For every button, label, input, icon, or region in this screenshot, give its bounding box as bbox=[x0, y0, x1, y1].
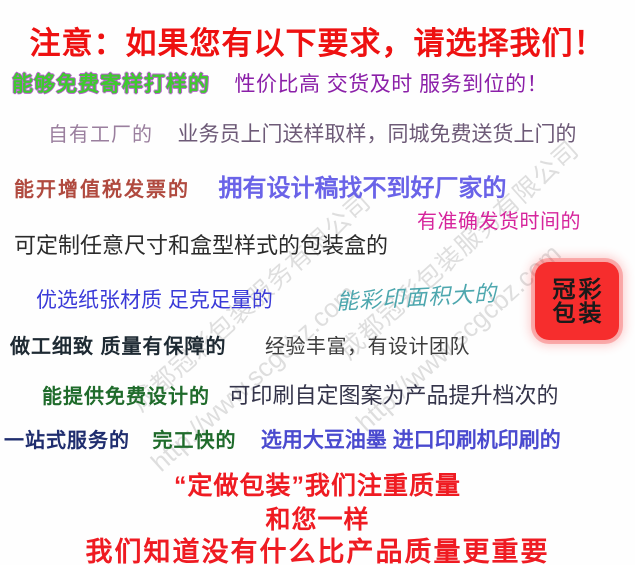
feature-soy-ink-label: 选用大豆油墨 进口印刷机印刷的 bbox=[261, 424, 561, 454]
feature-one-stop-service-label: 一站式服务的 bbox=[4, 424, 130, 453]
feature-workmanship-label: 做工细致 质量有保障的 bbox=[10, 330, 227, 359]
feature-row-free-design: 能提供免费设计的 可印刷自定图案为产品提升档次的 bbox=[0, 378, 635, 410]
feature-row-free-sample: 能够免费寄样打样的 性价比高 交货及时 服务到位的！ bbox=[0, 68, 635, 98]
brand-stamp: 冠彩 包装 bbox=[535, 262, 619, 340]
brand-stamp-line-2: 包装 bbox=[550, 301, 605, 325]
feature-vat-invoice-label: 能开增值税发票的 bbox=[14, 173, 190, 202]
feature-large-color-print-label: 能彩印面积大的 bbox=[335, 276, 497, 316]
feature-row-own-factory: 自有工厂的 业务员上门送样取样，同城免费送货上门的 bbox=[0, 118, 635, 148]
feature-row-invoice: 能开增值税发票的 拥有设计稿找不到好厂家的 bbox=[0, 168, 635, 203]
feature-row-custom-size: 可定制任意尺寸和盒型样式的包装盒的 bbox=[0, 228, 635, 260]
feature-own-factory-label: 自有工厂的 bbox=[48, 118, 153, 147]
closing-line-3: 我们知道没有什么比产品质量更重要 bbox=[0, 530, 635, 565]
feature-free-sample-label: 能够免费寄样打样的 bbox=[12, 68, 210, 98]
promo-poster: 成都冠彩包装服务有限公司 http://www.scgcbz.com 成都冠彩包… bbox=[0, 0, 635, 565]
poster-headline: 注意：如果您有以下要求，请选择我们！ bbox=[0, 18, 635, 63]
closing-line-1: “定做包装”我们注重质量 bbox=[0, 466, 635, 502]
feature-value-delivery-service-label: 性价比高 交货及时 服务到位的！ bbox=[234, 68, 548, 98]
feature-custom-size-label: 可定制任意尺寸和盒型样式的包装盒的 bbox=[14, 228, 388, 260]
feature-paper-quality-label: 优选纸张材质 足克足量的 bbox=[36, 284, 273, 314]
brand-stamp-line-1: 冠彩 bbox=[550, 277, 605, 301]
feature-free-design-label: 能提供免费设计的 bbox=[42, 380, 210, 409]
feature-experience-team-label: 经验丰富，有设计团队 bbox=[265, 330, 470, 359]
feature-salesman-visit-label: 业务员上门送样取样，同城免费送货上门的 bbox=[177, 118, 576, 148]
feature-row-one-stop: 一站式服务的 完工快的 选用大豆油墨 进口印刷机印刷的 bbox=[0, 424, 635, 454]
feature-fast-completion-label: 完工快的 bbox=[152, 424, 236, 453]
feature-design-draft-label: 拥有设计稿找不到好厂家的 bbox=[218, 168, 506, 203]
feature-custom-pattern-label: 可印刷自定图案为产品提升档次的 bbox=[228, 378, 558, 410]
